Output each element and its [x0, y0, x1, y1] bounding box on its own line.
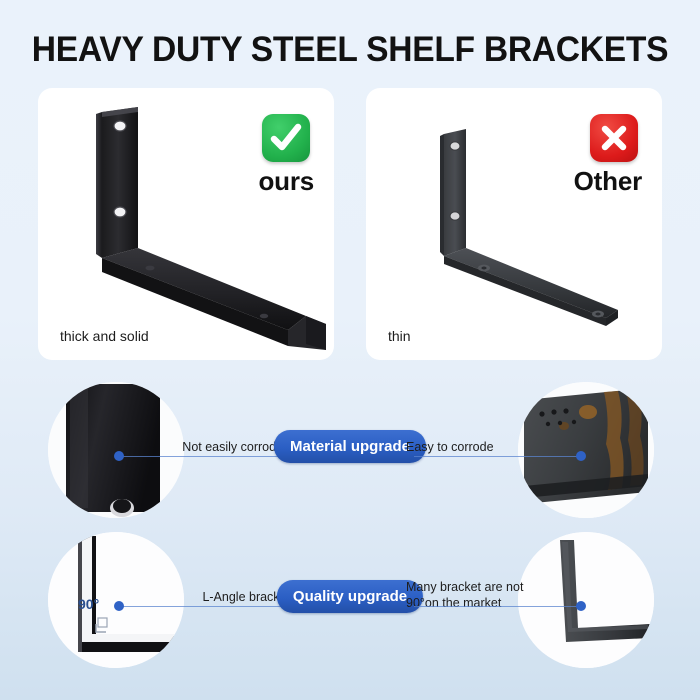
connector-dot-right: [576, 451, 586, 461]
connector-line-left: [118, 456, 286, 457]
quality-right-text-line1: Many bracket are not: [406, 580, 530, 596]
connector-dot-right: [576, 601, 586, 611]
comparison-panel-other: Other thin: [366, 88, 662, 360]
connector-line-right: [414, 606, 582, 607]
page-title: HEAVY DUTY STEEL SHELF BRACKETS: [14, 30, 686, 70]
off-angle-l-bracket-art: [518, 532, 654, 668]
connector-line-left: [118, 606, 286, 607]
other-label: Other: [574, 166, 642, 197]
rusted-surface-photo: [518, 382, 654, 518]
feature-row-quality: 90° L-Angle bracket Quality upgrade: [0, 530, 700, 670]
smooth-coating-photo: [48, 382, 184, 518]
cross-badge: [590, 114, 638, 162]
material-left-text: Not easily corroded: [170, 440, 290, 456]
cross-icon: [590, 114, 638, 162]
material-right-text: Easy to corrode: [406, 440, 530, 456]
rusted-bracket-closeup-art: [518, 382, 654, 518]
quality-upgrade-pill: Quality upgrade: [277, 580, 423, 613]
quality-right-text-line2: 90°on the market: [406, 596, 530, 612]
other-caption: thin: [388, 328, 411, 344]
feature-row-material: Not easily corroded Material upgrade Eas…: [0, 380, 700, 520]
check-icon: [262, 114, 310, 162]
connector-dot-left: [114, 601, 124, 611]
comparison-panel-ours: ours thick and solid: [38, 88, 334, 360]
off-angle-corner-photo: [518, 532, 654, 668]
quality-left-text: L-Angle bracket: [170, 590, 290, 606]
ours-caption: thick and solid: [60, 328, 149, 344]
ours-label: ours: [258, 166, 314, 197]
connector-line-right: [414, 456, 582, 457]
square-corner-photo: [48, 532, 184, 668]
infographic-canvas: HEAVY DUTY STEEL SHELF BRACKETS: [0, 0, 700, 700]
connector-dot-left: [114, 451, 124, 461]
ninety-degree-corner-art: [48, 532, 184, 668]
material-upgrade-pill: Material upgrade: [274, 430, 426, 463]
smooth-bracket-closeup-art: [48, 382, 184, 518]
check-badge: [262, 114, 310, 162]
angle-annotation: 90°: [78, 596, 99, 612]
